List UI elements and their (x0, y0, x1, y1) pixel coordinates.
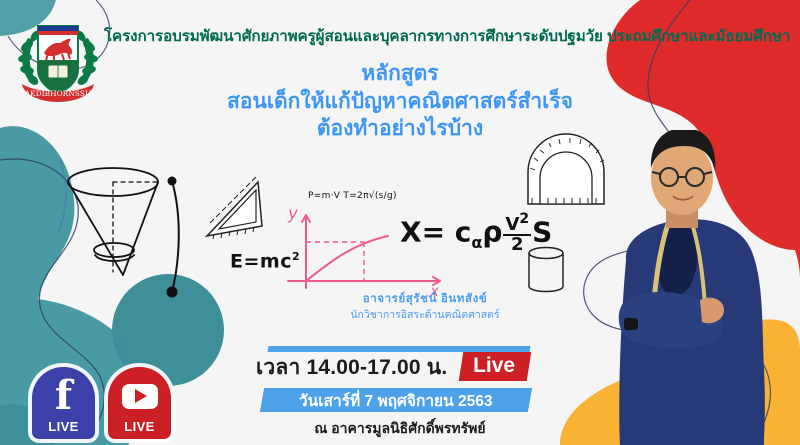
time-row: เวลา 14.00-17.00 น. Live (256, 352, 529, 382)
facebook-icon: f (32, 367, 95, 419)
formula-drag: X= cαρ V2 2 S (400, 212, 552, 255)
formula-drag-numerator: V2 (503, 212, 531, 236)
speaker-role: นักวิชาการอิสระด้านคณิตศาสตร์ (300, 308, 550, 322)
time-text: เวลา 14.00-17.00 น. (256, 351, 447, 384)
course-line-2: ต้องทำอย่างไรบ้าง (150, 115, 650, 143)
formula-drag-num-text: V (505, 214, 519, 235)
logo-motto-text: SAKDIBHORNSSUP (20, 89, 97, 98)
course-label: หลักสูตร (150, 60, 650, 88)
youtube-live-badge[interactable]: LIVE (108, 367, 171, 439)
poster-canvas: y x (0, 0, 800, 445)
formula-drag-tail: S (532, 215, 552, 248)
course-title-block: หลักสูตร สอนเด็กให้แก้ปัญหาคณิตศาสตร์สำเ… (150, 60, 650, 143)
facebook-live-badge[interactable]: f LIVE (32, 367, 95, 439)
organization-logo: SAKDIBHORNSSUP (8, 8, 108, 108)
wristwatch (624, 318, 638, 330)
course-line-1: สอนเด็กให้แก้ปัญหาคณิตศาสตร์สำเร็จ (150, 88, 650, 116)
formula-drag-rho: ρ (482, 215, 502, 248)
formula-emc2-exponent: 2 (292, 250, 300, 263)
formula-drag-sub: α (471, 233, 482, 252)
date-text: วันเสาร์ที่ 7 พฤศจิกายน 2563 (299, 388, 493, 413)
header-title: โครงการอบรมพัฒนาศักยภาพครูผู้สอนและบุคลา… (104, 24, 794, 48)
speaker-block: อาจารย์สุรัชน์ อินทสังข์ นักวิชาการอิสระ… (300, 292, 550, 322)
formula-drag-denominator: 2 (511, 236, 524, 254)
live-badge: Live (459, 352, 532, 381)
speaker-name: อาจารย์สุรัชน์ อินทสังข์ (300, 292, 550, 308)
shield-stripe-blue (38, 26, 78, 31)
formula-momentum: P=m·V T=2π√(s/g) (308, 191, 397, 201)
formula-drag-fraction: V2 2 (503, 212, 531, 255)
youtube-icon (108, 367, 171, 419)
facebook-live-label: LIVE (48, 419, 79, 434)
formula-emc2: E=mc2 (230, 250, 300, 272)
live-badge-label: Live (473, 354, 515, 378)
youtube-live-label: LIVE (124, 419, 155, 434)
shield-stripe-red (38, 31, 78, 35)
formula-emc2-text: E=mc (230, 250, 292, 272)
date-bar: วันเสาร์ที่ 7 พฤศจิกายน 2563 (260, 388, 532, 412)
formula-drag-lead: X= c (400, 215, 471, 248)
formula-drag-num-exp: 2 (519, 211, 529, 227)
venue-text: ณ อาคารมูลนิธิศักดิ์พรทรัพย์ (230, 418, 570, 440)
